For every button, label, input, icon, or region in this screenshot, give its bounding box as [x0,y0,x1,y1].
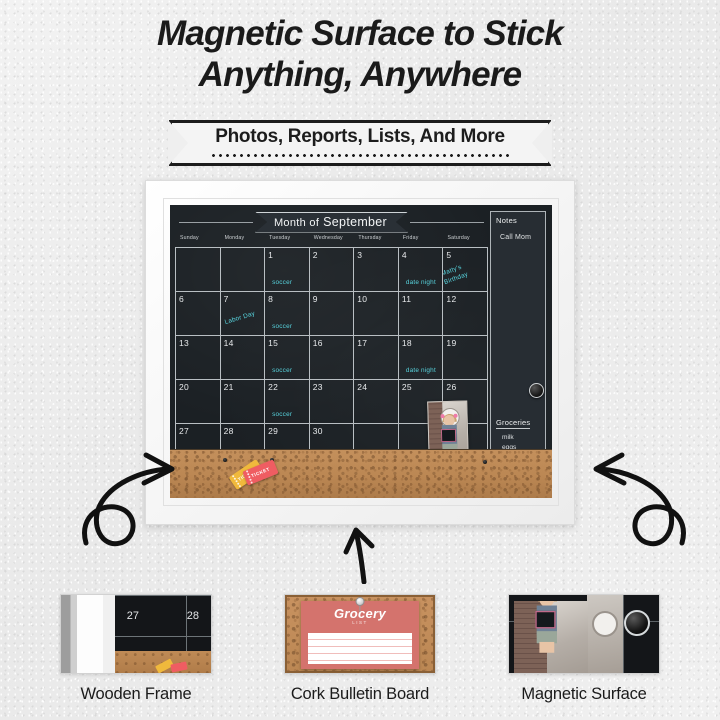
calendar-day-number: 18 [402,338,443,348]
feature-list: 27 28 Wooden Frame Grocery LIST Cork Bul… [0,594,720,704]
ticket-label: TICKET [250,467,270,479]
weekday-label-thursday: Thursday [354,235,399,247]
round-magnet-icon [624,610,650,636]
calendar-day-number: 7 [224,294,265,304]
calendar-day-number: 15 [268,338,309,348]
calendar-day-number: 9 [313,294,354,304]
thumb-day-number: 27 [127,610,139,622]
calendar-day-number: 25 [402,382,443,392]
push-pin-icon [356,597,365,606]
calendar-cell[interactable]: 24 [354,380,399,424]
calendar-day-number: 14 [224,338,265,348]
calendar-note: soccer [272,279,292,286]
photo-child-chalkboard [535,611,555,629]
calendar-cell[interactable]: 21 [221,380,266,424]
push-pin-icon [483,460,487,464]
calendar-note: soccer [272,323,292,330]
notes-panel: Notes Call Mom Groceries milkeggslettuce [490,211,546,468]
calendar-cell[interactable]: 10 [354,292,399,336]
calendar-cell[interactable] [221,248,266,292]
photo-child-chalkboard [441,429,456,442]
thumb-chalkboard [115,595,211,651]
framed-board: Month ofSeptember SundayMondayTuesdayWed… [145,180,575,525]
headline-line-2: Anything, Anywhere [0,55,720,96]
cork-strip: TICKET TICKET [170,449,552,498]
calendar-day-number: 24 [357,382,398,392]
weekday-label-tuesday: Tuesday [265,235,310,247]
calendar-cell[interactable]: 5Matty's Birthday [443,248,488,292]
grocery-card-subtitle: LIST [301,620,419,625]
feature-cork-board: Grocery LIST Cork Bulletin Board [275,594,445,704]
calendar-day-number: 26 [446,382,487,392]
calendar-cell[interactable]: 3 [354,248,399,292]
month-banner: Month ofSeptember [255,212,408,233]
calendar-day-number: 6 [179,294,220,304]
calendar-cell[interactable] [176,248,221,292]
calendar-day-number: 11 [402,294,443,304]
weekday-label-sunday: Sunday [176,235,221,247]
calendar-cell[interactable]: 17 [354,336,399,380]
calendar-cell[interactable]: 14 [221,336,266,380]
thumb-grid-line [623,595,624,673]
calendar-day-number: 16 [313,338,354,348]
curly-arrow-right-icon [570,443,690,558]
groceries-title: Groceries [496,418,530,429]
thumb-mirror [592,611,618,637]
calendar-cell[interactable]: 6 [176,292,221,336]
weekday-header: SundayMondayTuesdayWednesdayThursdayFrid… [175,235,488,247]
thumb-day-number: 28 [187,610,199,622]
thumb-photo [514,601,588,673]
calendar-day-number: 28 [224,426,265,436]
calendar-cell[interactable]: 22soccer [265,380,310,424]
subtitle-ribbon: Photos, Reports, Lists, And More [169,120,551,166]
calendar-day-number: 4 [402,250,443,260]
photo-child-legs [539,642,554,653]
calendar-cell[interactable]: 9 [310,292,355,336]
calendar-cell[interactable]: 13 [176,336,221,380]
calendar-cell[interactable]: 4date night [399,248,444,292]
calendar-cell[interactable]: 2 [310,248,355,292]
weekday-label-wednesday: Wednesday [310,235,355,247]
month-banner-month: September [323,215,387,229]
board-inner: Month ofSeptember SundayMondayTuesdayWed… [170,205,552,498]
calendar-note: date night [406,279,436,286]
calendar-day-number: 13 [179,338,220,348]
thumb-white-frame [61,595,115,673]
banner-rule-right [410,222,484,223]
straight-arrow-up-icon [342,522,384,584]
notes-item: Call Mom [496,234,540,241]
notes-title: Notes [496,216,540,225]
calendar-cell[interactable]: 8soccer [265,292,310,336]
calendar-day-number: 20 [179,382,220,392]
calendar-day-number: 30 [313,426,354,436]
ribbon-label: Photos, Reports, Lists, And More [215,126,505,148]
calendar-cell[interactable]: 23 [310,380,355,424]
push-pin-needle [359,605,360,612]
calendar-day-number: 8 [268,294,309,304]
calendar-cell[interactable]: 16 [310,336,355,380]
calendar-note: Labor Day [224,310,256,326]
calendar-day-number: 10 [357,294,398,304]
weekday-label-saturday: Saturday [443,235,488,247]
calendar-note: soccer [272,411,292,418]
feature-label-wooden-frame: Wooden Frame [51,685,221,704]
calendar-day-number: 23 [313,382,354,392]
weekday-label-monday: Monday [221,235,266,247]
round-magnet-icon [529,383,544,398]
calendar-day-number: 19 [446,338,487,348]
month-banner-prefix: Month of [274,217,319,229]
calendar-day-number: 17 [357,338,398,348]
headline-line-1: Magnetic Surface to Stick [0,14,720,55]
thumb-grid-line [115,595,211,596]
calendar-day-number: 29 [268,426,309,436]
calendar-cell[interactable]: 7Labor Day [221,292,266,336]
photo-child [534,601,580,673]
ribbon-body: Photos, Reports, Lists, And More [169,120,551,166]
weekday-label-friday: Friday [399,235,444,247]
feature-thumb-wooden-frame: 27 28 [60,594,212,674]
calendar-cell[interactable]: 15soccer [265,336,310,380]
feature-thumb-cork-board: Grocery LIST [284,594,436,674]
calendar-day-number: 12 [446,294,487,304]
feature-label-magnetic-surface: Magnetic Surface [499,685,669,704]
curly-arrow-left-icon [78,443,198,558]
push-pin-icon [223,458,227,462]
calendar-cell[interactable]: 11 [399,292,444,336]
page-title: Magnetic Surface to Stick Anything, Anyw… [0,14,720,96]
feature-thumb-magnetic-surface [508,594,660,674]
month-banner-row: Month ofSeptember [175,209,488,235]
calendar-day-number: 1 [268,250,309,260]
grocery-card-lines [308,633,412,664]
calendar-note: Matty's Birthday [443,256,487,287]
chalkboard-surface: Month ofSeptember SundayMondayTuesdayWed… [170,205,552,468]
thumb-grid-line [115,636,211,637]
calendar-day-number: 27 [179,426,220,436]
calendar-day-number: 3 [357,250,398,260]
feature-wooden-frame: 27 28 Wooden Frame [51,594,221,704]
calendar-cell[interactable]: 12 [443,292,488,336]
calendar-day-number: 2 [313,250,354,260]
calendar-day-number: 22 [268,382,309,392]
grocery-item: milk [502,433,540,443]
calendar-day-number: 21 [224,382,265,392]
calendar-cell[interactable]: 1soccer [265,248,310,292]
ribbon-dotted-rule [210,154,510,157]
feature-label-cork-board: Cork Bulletin Board [275,685,445,704]
banner-rule-left [179,222,253,223]
calendar-cell[interactable]: 20 [176,380,221,424]
feature-magnetic-surface: Magnetic Surface [499,594,669,704]
calendar-note: soccer [272,367,292,374]
calendar-note: date night [406,367,436,374]
calendar-cell[interactable]: 19 [443,336,488,380]
calendar-cell[interactable]: 18date night [399,336,444,380]
thumb-grid-line [186,595,187,653]
